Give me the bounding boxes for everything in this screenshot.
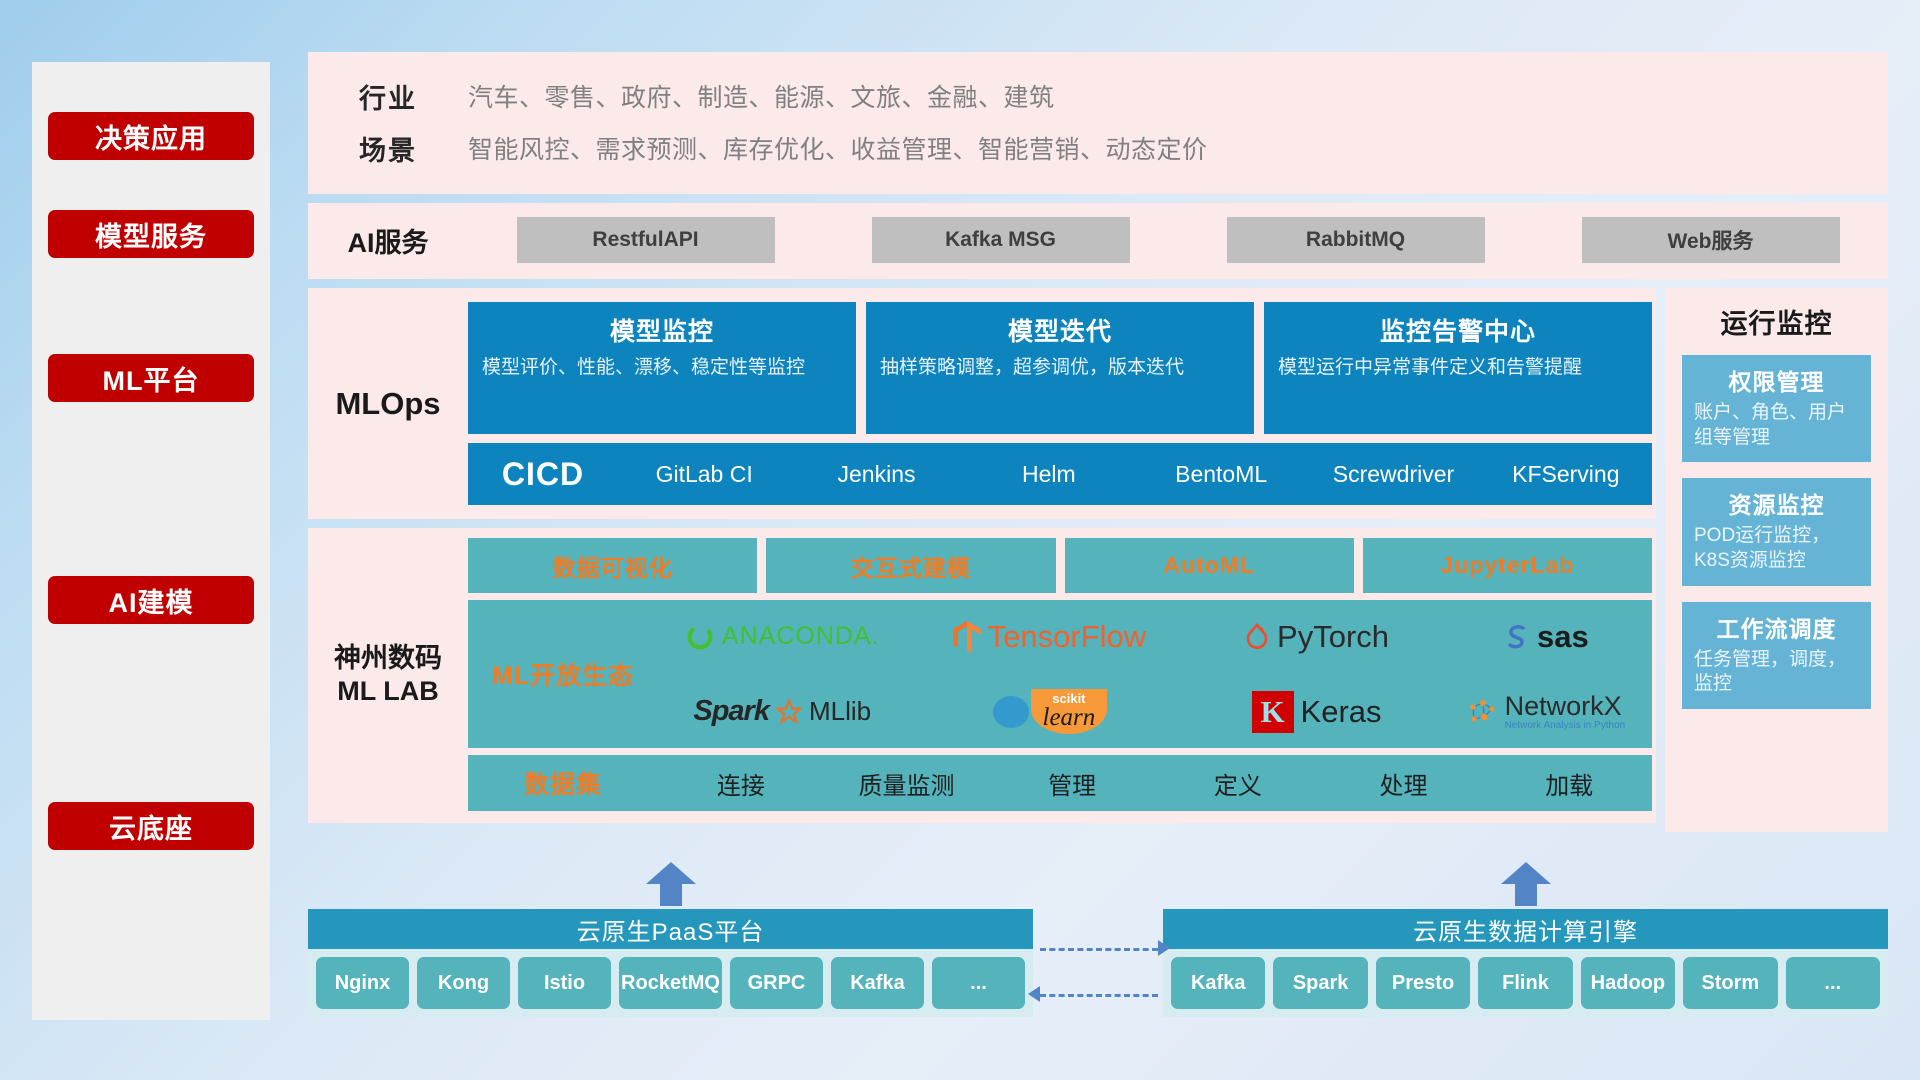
ml-lab-label-line2: ML LAB [337,675,439,707]
ml-lab-label: 神州数码 ML LAB [308,538,468,811]
ai-modeling-content: 数据可视化 交互式建模 AutoML JupyterLab ML开放生态 [468,538,1656,811]
mlops-card-model-iteration[interactable]: 模型迭代 抽样策略调整，超参调优，版本迭代 [866,302,1254,434]
ml-ecosystem-logos: ANACONDA. TensorFlow [658,600,1652,748]
card-title: 模型迭代 [880,312,1240,348]
sas-logo: sas [1441,619,1652,655]
runtime-monitor-panel: 运行监控 权限管理 账户、角色、用户组等管理 资源监控 POD运行监控，K8S资… [1665,288,1888,832]
runtime-monitor-title: 运行监控 [1682,302,1871,341]
ml-ecosystem-label: ML开放生态 [468,656,658,692]
scenario-values: 智能风控、需求预测、库存优化、收益管理、智能营销、动态定价 [468,130,1208,166]
spark-wordmark: Spark [693,695,769,728]
mllib-wordmark: MLlib [809,696,871,727]
cloud-chip-nginx[interactable]: Nginx [316,957,409,1009]
pytorch-logo: PyTorch [1192,619,1441,655]
dataset-item-quality-monitor[interactable]: 质量监测 [824,766,990,801]
cloud-chip-more[interactable]: ... [1786,957,1880,1009]
cloud-chip-more[interactable]: ... [932,957,1025,1009]
cloud-chip-kafka[interactable]: Kafka [1171,957,1265,1009]
cicd-item-jenkins[interactable]: Jenkins [790,461,962,487]
tool-chip-automl[interactable]: AutoML [1065,538,1354,593]
connector-arrow-left-icon [1028,986,1040,1002]
ai-service-chip-web-service[interactable]: Web服务 [1582,217,1840,263]
platform-region: MLOps 模型监控 模型评价、性能、漂移、稳定性等监控 模型迭代 抽样策略调整… [308,288,1888,832]
card-title: 权限管理 [1694,363,1859,397]
networkx-graph-icon [1468,697,1498,727]
card-title: 资源监控 [1694,486,1859,520]
rail-chip-label: 云底座 [109,807,193,846]
spark-mllib-logo: Spark MLlib [658,695,907,728]
mlops-card-row: 模型监控 模型评价、性能、漂移、稳定性等监控 模型迭代 抽样策略调整，超参调优，… [468,302,1652,434]
pytorch-icon [1244,622,1270,652]
dataset-item-load[interactable]: 加载 [1486,766,1652,801]
mlops-card-model-monitoring[interactable]: 模型监控 模型评价、性能、漂移、稳定性等监控 [468,302,856,434]
scenario-row: 场景 智能风控、需求预测、库存优化、收益管理、智能营销、动态定价 [308,122,1888,174]
ai-service-cell: Web服务 [1533,217,1888,263]
card-desc: POD运行监控，K8S资源监控 [1694,524,1859,573]
ml-ecosystem-row: ML开放生态 ANACONDA. [468,600,1652,748]
ecosystem-logo-line-2: Spark MLlib [658,675,1652,748]
mlops-card-alert-center[interactable]: 监控告警中心 模型运行中异常事件定义和告警提醒 [1264,302,1652,434]
mlops-band: MLOps 模型监控 模型评价、性能、漂移、稳定性等监控 模型迭代 抽样策略调整… [308,288,1656,519]
rail-chip-model-service[interactable]: 模型服务 [48,210,254,258]
cicd-bar: CICD GitLab CI Jenkins Helm BentoML Scre… [468,443,1652,505]
tool-chip-jupyterlab[interactable]: JupyterLab [1363,538,1652,593]
cloud-chip-rocketmq[interactable]: RocketMQ [619,957,722,1009]
cloud-group-paas: 云原生PaaS平台 Nginx Kong Istio RocketMQ GRPC… [308,862,1033,1017]
learn-text: learn [1043,706,1096,730]
rail-chip-cloud-base[interactable]: 云底座 [48,802,254,850]
cloud-chip-hadoop[interactable]: Hadoop [1581,957,1675,1009]
cloud-chip-storm[interactable]: Storm [1683,957,1777,1009]
dataset-item-connect[interactable]: 连接 [658,766,824,801]
card-desc: 账户、角色、用户组等管理 [1694,401,1859,450]
cicd-item-kfserving[interactable]: KFServing [1480,461,1652,487]
ml-lab-label-line1: 神州数码 [334,642,442,674]
dataset-item-process[interactable]: 处理 [1321,766,1487,801]
dataset-item-manage[interactable]: 管理 [989,766,1155,801]
card-title: 监控告警中心 [1278,312,1638,348]
dataset-row: 数据集 连接 质量监测 管理 定义 处理 加载 [468,755,1652,811]
cicd-label: CICD [468,456,618,493]
card-desc: 抽样策略调整，超参调优，版本迭代 [880,355,1240,380]
networkx-wordmark: NetworkX [1505,693,1626,720]
spark-star-icon [776,699,802,725]
tensorflow-icon [953,621,981,653]
cloud-chip-grpc[interactable]: GRPC [730,957,823,1009]
rail-chip-decision-apps[interactable]: 决策应用 [48,112,254,160]
networkx-wordmark-block: NetworkX Network Analysis in Python [1505,693,1626,731]
cloud-paas-title: 云原生PaaS平台 [308,909,1033,949]
card-desc: 模型运行中异常事件定义和告警提醒 [1278,355,1638,380]
rail-chip-label: ML平台 [103,359,200,398]
anaconda-logo: ANACONDA. [658,622,907,652]
anaconda-wordmark: ANACONDA. [722,622,880,651]
industry-values: 汽车、零售、政府、制造、能源、文旅、金融、建筑 [468,78,1055,114]
monitor-card-resource[interactable]: 资源监控 POD运行监控，K8S资源监控 [1682,478,1871,585]
rail-chip-label: 模型服务 [95,215,207,254]
cloud-group-connector [1040,940,1170,1010]
cloud-data-engine-title: 云原生数据计算引擎 [1163,909,1888,949]
cloud-chip-istio[interactable]: Istio [518,957,611,1009]
networkx-logo: NetworkX Network Analysis in Python [1441,693,1652,731]
layer-rail: 决策应用 模型服务 ML平台 AI建模 云底座 [32,62,270,1020]
cloud-chip-kong[interactable]: Kong [417,957,510,1009]
cicd-item-bentoml[interactable]: BentoML [1135,461,1307,487]
ai-service-cell: Kafka MSG [823,217,1178,263]
card-desc: 模型评价、性能、漂移、稳定性等监控 [482,355,842,380]
networkx-tagline: Network Analysis in Python [1505,720,1626,731]
cloud-chip-kafka[interactable]: Kafka [831,957,924,1009]
cloud-data-engine-chip-row: Kafka Spark Presto Flink Hadoop Storm ..… [1163,949,1888,1017]
dataset-label: 数据集 [468,765,658,801]
ai-service-chip-kafka-msg[interactable]: Kafka MSG [872,217,1130,263]
cloud-chip-spark[interactable]: Spark [1273,957,1367,1009]
mlops-content: 模型监控 模型评价、性能、漂移、稳定性等监控 模型迭代 抽样策略调整，超参调优，… [468,302,1656,505]
scenario-label: 场景 [308,129,468,168]
sas-icon [1504,623,1530,651]
ai-service-chip-rabbitmq[interactable]: RabbitMQ [1227,217,1485,263]
ai-service-label: AI服务 [308,221,468,260]
decision-apps-band: 行业 汽车、零售、政府、制造、能源、文旅、金融、建筑 场景 智能风控、需求预测、… [308,52,1888,194]
tool-chip-interactive-modeling[interactable]: 交互式建模 [766,538,1055,593]
platform-left-column: MLOps 模型监控 模型评价、性能、漂移、稳定性等监控 模型迭代 抽样策略调整… [308,288,1656,832]
monitor-card-workflow[interactable]: 工作流调度 任务管理，调度，监控 [1682,602,1871,709]
connector-line-left [1040,994,1158,997]
card-title: 工作流调度 [1694,610,1859,644]
card-desc: 任务管理，调度，监控 [1694,648,1859,697]
pytorch-wordmark: PyTorch [1277,619,1389,655]
tensorflow-wordmark: TensorFlow [988,619,1147,655]
ai-service-cell: RabbitMQ [1178,217,1533,263]
cicd-item-helm[interactable]: Helm [963,461,1135,487]
tensorflow-logo: TensorFlow [907,619,1193,655]
ai-service-chip-restfulapi[interactable]: RestfulAPI [517,217,775,263]
ai-service-chip-track: RestfulAPI Kafka MSG RabbitMQ Web服务 [468,217,1888,263]
cloud-chip-flink[interactable]: Flink [1478,957,1572,1009]
rail-chip-ai-modeling[interactable]: AI建模 [48,576,254,624]
mlops-label: MLOps [308,302,468,505]
dataset-item-define[interactable]: 定义 [1155,766,1321,801]
ai-modeling-band: 神州数码 ML LAB 数据可视化 交互式建模 AutoML JupyterLa… [308,528,1656,823]
ai-service-cell: RestfulAPI [468,217,823,263]
cicd-item-screwdriver[interactable]: Screwdriver [1307,461,1479,487]
architecture-main: 行业 汽车、零售、政府、制造、能源、文旅、金融、建筑 场景 智能风控、需求预测、… [308,52,1888,832]
cicd-item-gitlab-ci[interactable]: GitLab CI [618,461,790,487]
cloud-group-data-engine: 云原生数据计算引擎 Kafka Spark Presto Flink Hadoo… [1163,862,1888,1017]
ai-service-band: AI服务 RestfulAPI Kafka MSG RabbitMQ Web服务 [308,203,1888,279]
rail-chip-label: AI建模 [109,581,194,620]
industry-row: 行业 汽车、零售、政府、制造、能源、文旅、金融、建筑 [308,70,1888,122]
card-title: 模型监控 [482,312,842,348]
modeling-tool-row: 数据可视化 交互式建模 AutoML JupyterLab [468,538,1652,593]
keras-logo: K Keras [1192,691,1441,733]
industry-label: 行业 [308,77,468,116]
scikit-learn-badge: scikit learn [1031,689,1108,735]
ecosystem-logo-line-1: ANACONDA. TensorFlow [658,600,1652,673]
sas-wordmark: sas [1537,619,1589,655]
scikit-learn-logo: scikit learn [907,689,1193,735]
monitor-card-permission[interactable]: 权限管理 账户、角色、用户组等管理 [1682,355,1871,462]
rail-chip-label: 决策应用 [95,117,207,156]
cloud-paas-chip-row: Nginx Kong Istio RocketMQ GRPC Kafka ... [308,949,1033,1017]
scikit-blue-blob-icon [992,695,1030,729]
keras-wordmark: Keras [1301,694,1382,730]
connector-arrow-right-icon [1158,940,1170,956]
connector-line-right [1040,948,1158,951]
rail-chip-ml-platform[interactable]: ML平台 [48,354,254,402]
anaconda-icon [685,622,715,652]
keras-icon: K [1252,691,1294,733]
keras-k-glyph: K [1260,694,1284,730]
tool-chip-data-visualization[interactable]: 数据可视化 [468,538,757,593]
cloud-chip-presto[interactable]: Presto [1376,957,1470,1009]
